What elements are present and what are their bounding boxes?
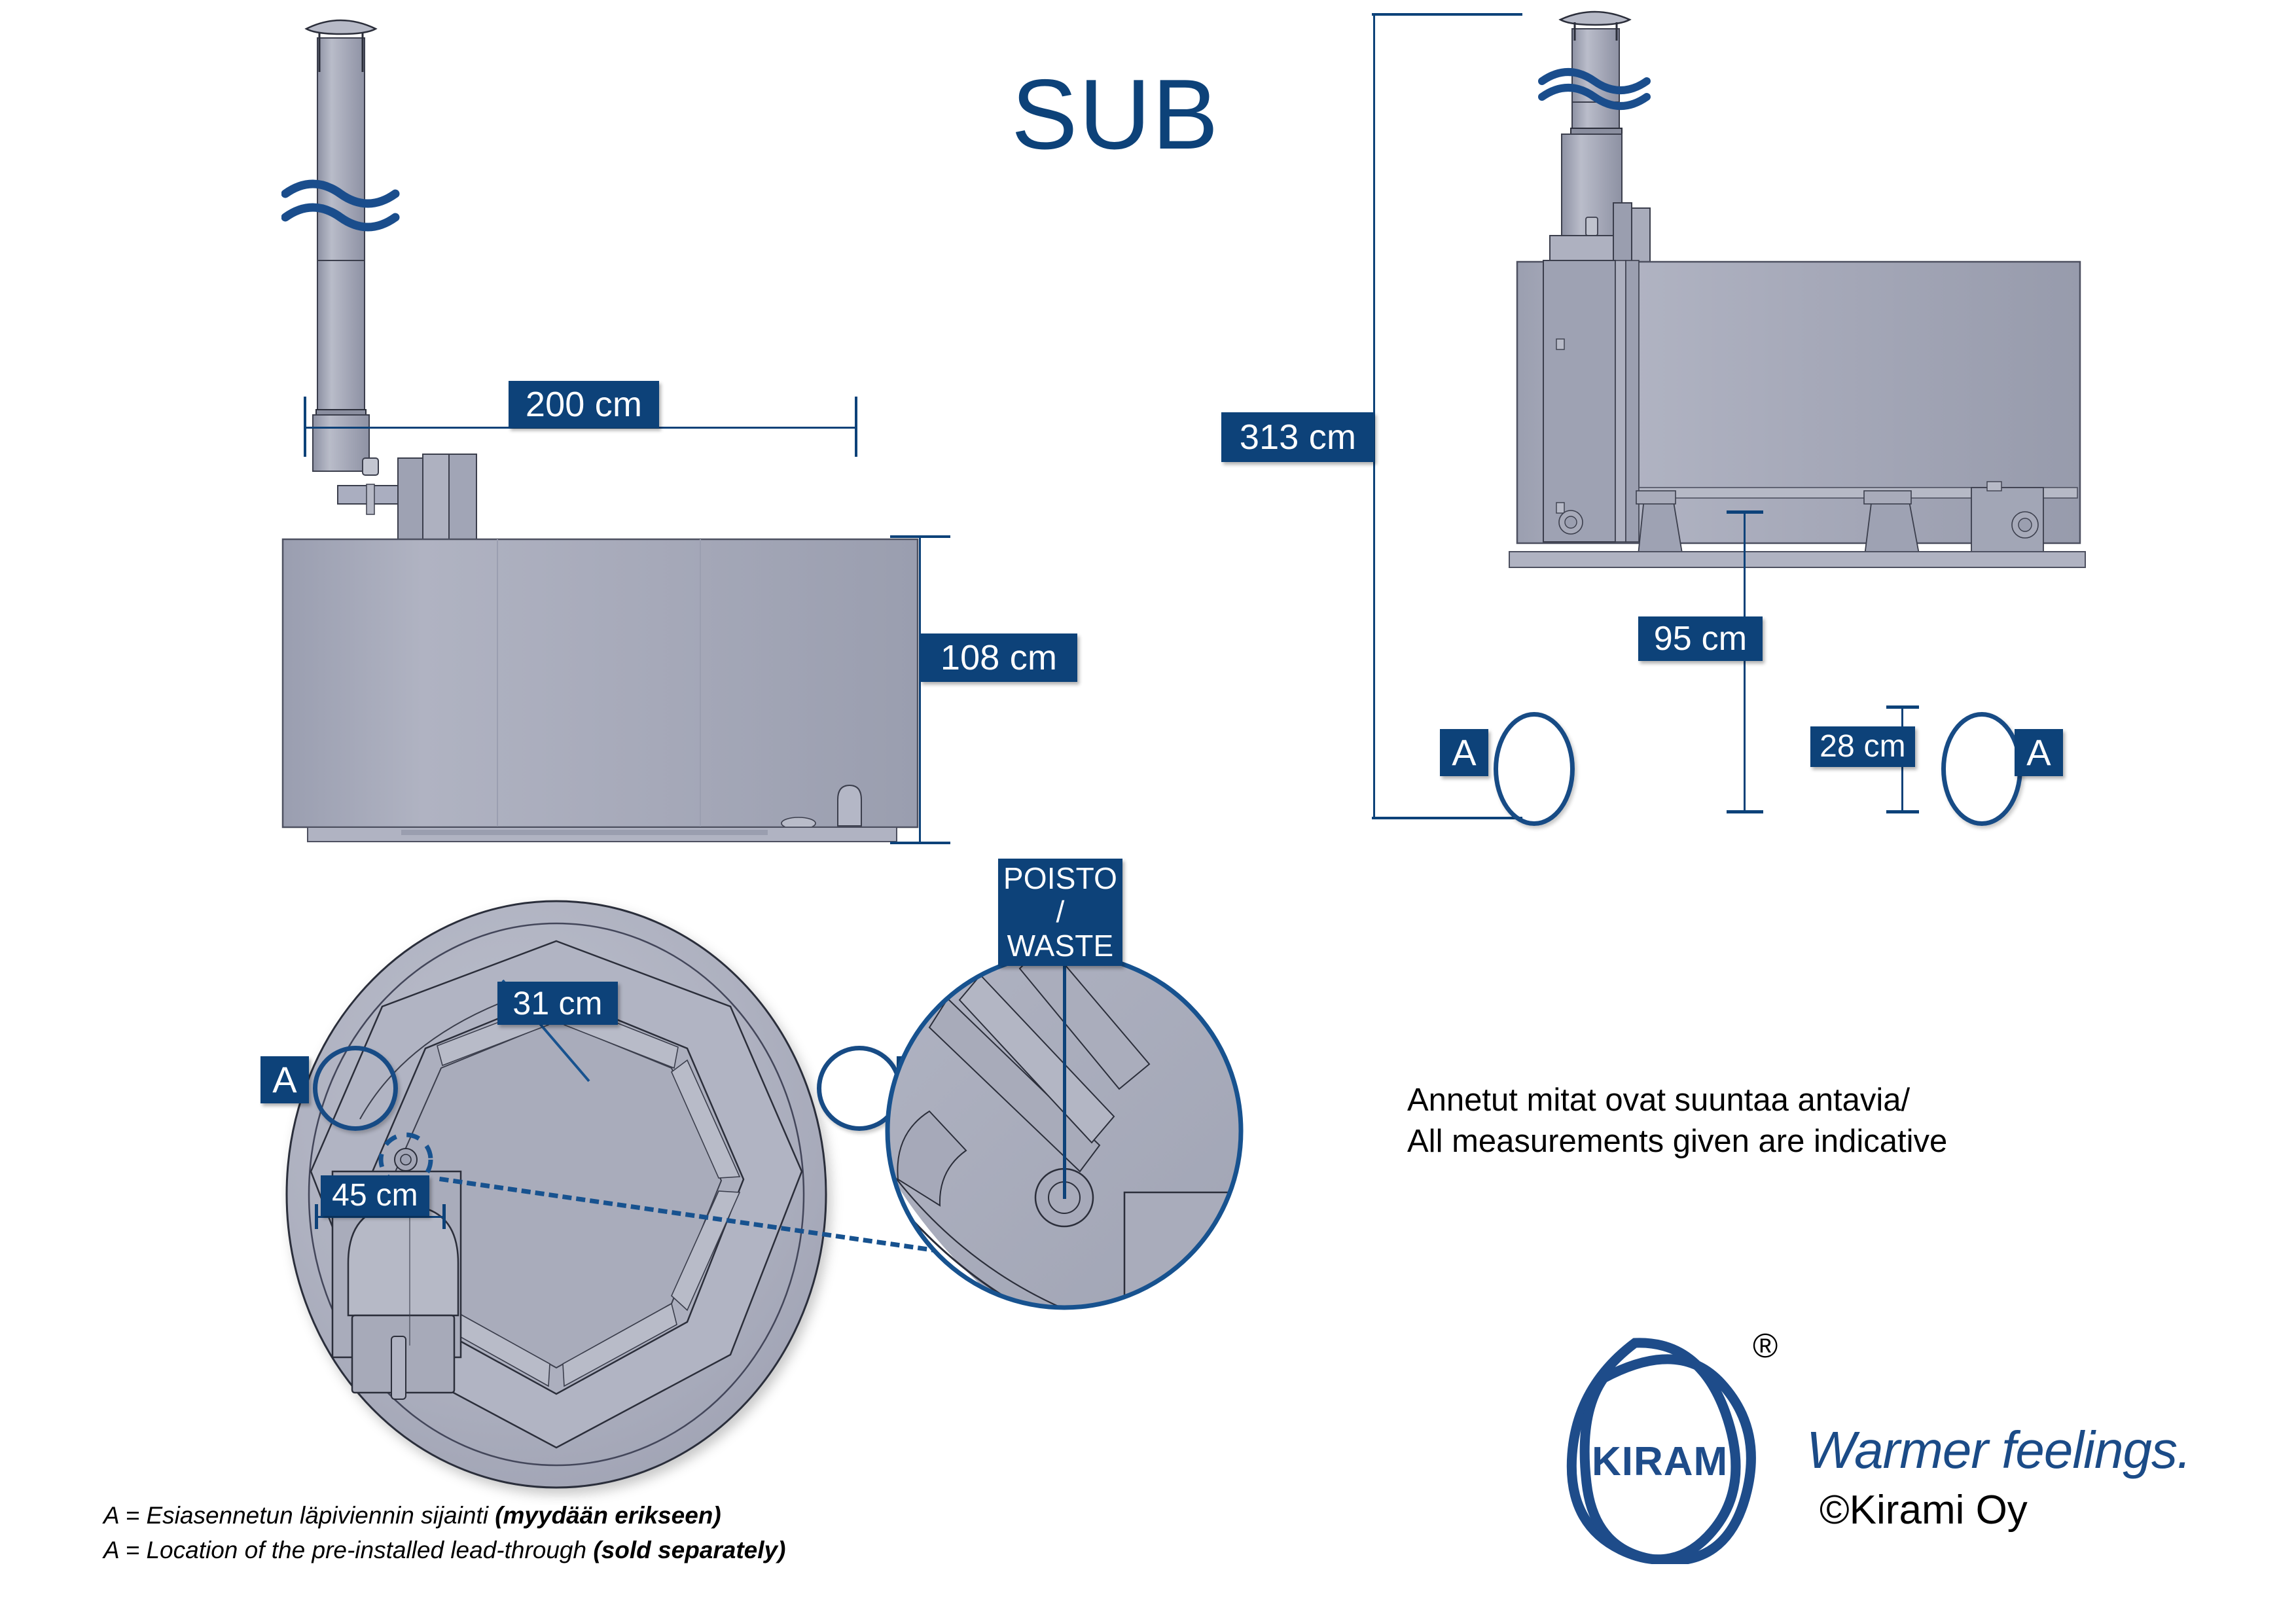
- legend-fi-bold: (myydään erikseen): [495, 1502, 721, 1529]
- legend-line-en: A = Location of the pre-installed lead-t…: [103, 1533, 1085, 1568]
- copyright-notice: ©Kirami Oy: [1820, 1487, 2028, 1533]
- measurement-note: Annetut mitat ovat suuntaa antavia/ All …: [1407, 1080, 2225, 1162]
- waste-callout-label: POISTO / WASTE: [998, 859, 1122, 966]
- waste-callout-leader: [1063, 963, 1066, 1199]
- a-marker-circle-side-left: [1494, 712, 1575, 826]
- brand-tagline: Warmer feelings.: [1806, 1420, 2191, 1480]
- registered-trademark-icon: ®: [1753, 1327, 1778, 1366]
- drawing-canvas: SUB: [0, 0, 2296, 1623]
- legend-block: A = Esiasennetun läpiviennin sijainti (m…: [103, 1499, 1085, 1567]
- dimension-313cm: 313 cm: [1221, 412, 1374, 462]
- a-marker-label-top-left: A: [260, 1056, 309, 1103]
- a-marker-circle-top-left: [313, 1046, 398, 1131]
- kirami-logo-mark: KIRAMI: [1558, 1315, 1846, 1564]
- legend-en-bold: (sold separately): [593, 1537, 785, 1563]
- dimension-31cm: 31 cm: [497, 982, 618, 1025]
- legend-en-plain: A = Location of the pre-installed lead-t…: [103, 1537, 593, 1563]
- a-marker-label-side-right: A: [2015, 729, 2063, 776]
- dimension-45cm: 45 cm: [321, 1175, 429, 1216]
- legend-fi-plain: A = Esiasennetun läpiviennin sijainti: [103, 1502, 495, 1529]
- waste-detail-circle: [884, 949, 1250, 1315]
- dimension-200cm: 200 cm: [509, 381, 659, 428]
- kirami-wordmark: KIRAMI: [1592, 1439, 1740, 1484]
- a-marker-label-side-left: A: [1440, 729, 1488, 776]
- dimension-95cm: 95 cm: [1638, 616, 1763, 661]
- page-title: SUB: [1011, 58, 1220, 172]
- dimension-108cm: 108 cm: [920, 633, 1077, 682]
- a-marker-circle-side-right: [1941, 712, 2022, 826]
- legend-line-fi: A = Esiasennetun läpiviennin sijainti (m…: [103, 1499, 1085, 1533]
- dimension-28cm: 28 cm: [1810, 726, 1915, 767]
